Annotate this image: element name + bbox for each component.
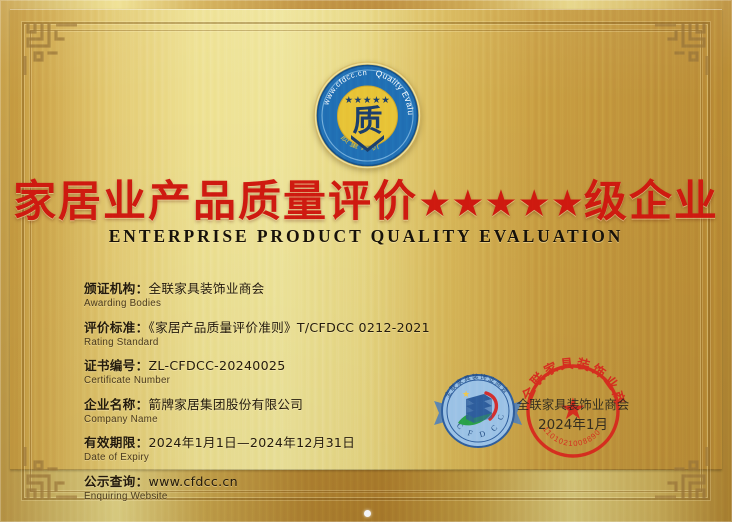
field-label-en: Enquiring Website [84,490,514,503]
svg-text:★: ★ [462,390,470,400]
field-chinese-line: 评价标准：《家居产品质量评价准则》T/CFDCC 0212-2021 [84,320,514,335]
field-label-cn: 评价标准： [84,320,148,335]
quality-evaluation-badge-icon: www.cfdcc.cn Quality Evaluation 质量评价 ★★★… [311,59,424,172]
field-label-cn: 证书编号： [84,358,148,373]
certificate-plaque: www.cfdcc.cn Quality Evaluation 质量评价 ★★★… [0,0,732,522]
field-chinese-line: 颁证机构：全联家具装饰业商会 [84,281,514,296]
certificate-title-english: ENTERPRISE PRODUCT QUALITY EVALUATION [0,226,732,247]
plaque-reflection-speck [364,510,371,517]
certificate-title-chinese: 家居业产品质量评价★★★★★级企业 [0,167,732,229]
field-value-cn: 2024年1月1日—2024年12月31日 [148,435,355,450]
svg-text:2024年1月: 2024年1月 [538,417,608,433]
svg-text:质: 质 [353,104,383,139]
official-red-seal-icon: 全联家具装饰业商会 1101021008890 ★ 全联家具装饰业商会 2024… [513,351,633,471]
field-rating-standard: 评价标准：《家居产品质量评价准则》T/CFDCC 0212-2021 Ratin… [84,320,514,349]
field-awarding-bodies: 颁证机构：全联家具装饰业商会 Awarding Bodies [84,281,514,310]
field-value-cn: ZL-CFDCC-20240025 [148,358,285,373]
field-label-cn: 公示查询： [84,474,148,489]
field-value-cn: 《家居产品质量评价准则》T/CFDCC 0212-2021 [148,320,429,335]
field-value-cn: 全联家具装饰业商会 [148,281,264,296]
title-cn-suffix: 级企业 [584,177,719,227]
field-chinese-line: 公示查询：www.cfdcc.cn [84,474,514,489]
field-label-cn: 企业名称： [84,397,148,412]
field-label-cn: 颁证机构： [84,281,148,296]
field-enquiring-website: 公示查询：www.cfdcc.cn Enquiring Website [84,474,514,503]
title-cn-prefix: 家居业产品质量评价 [13,177,418,227]
svg-text:全联家具装饰业商会: 全联家具装饰业商会 [517,397,630,412]
field-label-cn: 有效期限： [84,435,148,450]
field-label-en: Awarding Bodies [84,297,514,310]
field-value-cn: 箭牌家居集团股份有限公司 [148,397,303,412]
title-star-rating: ★★★★★ [418,182,584,225]
field-label-en: Rating Standard [84,336,514,349]
field-value-cn: www.cfdcc.cn [148,474,237,489]
